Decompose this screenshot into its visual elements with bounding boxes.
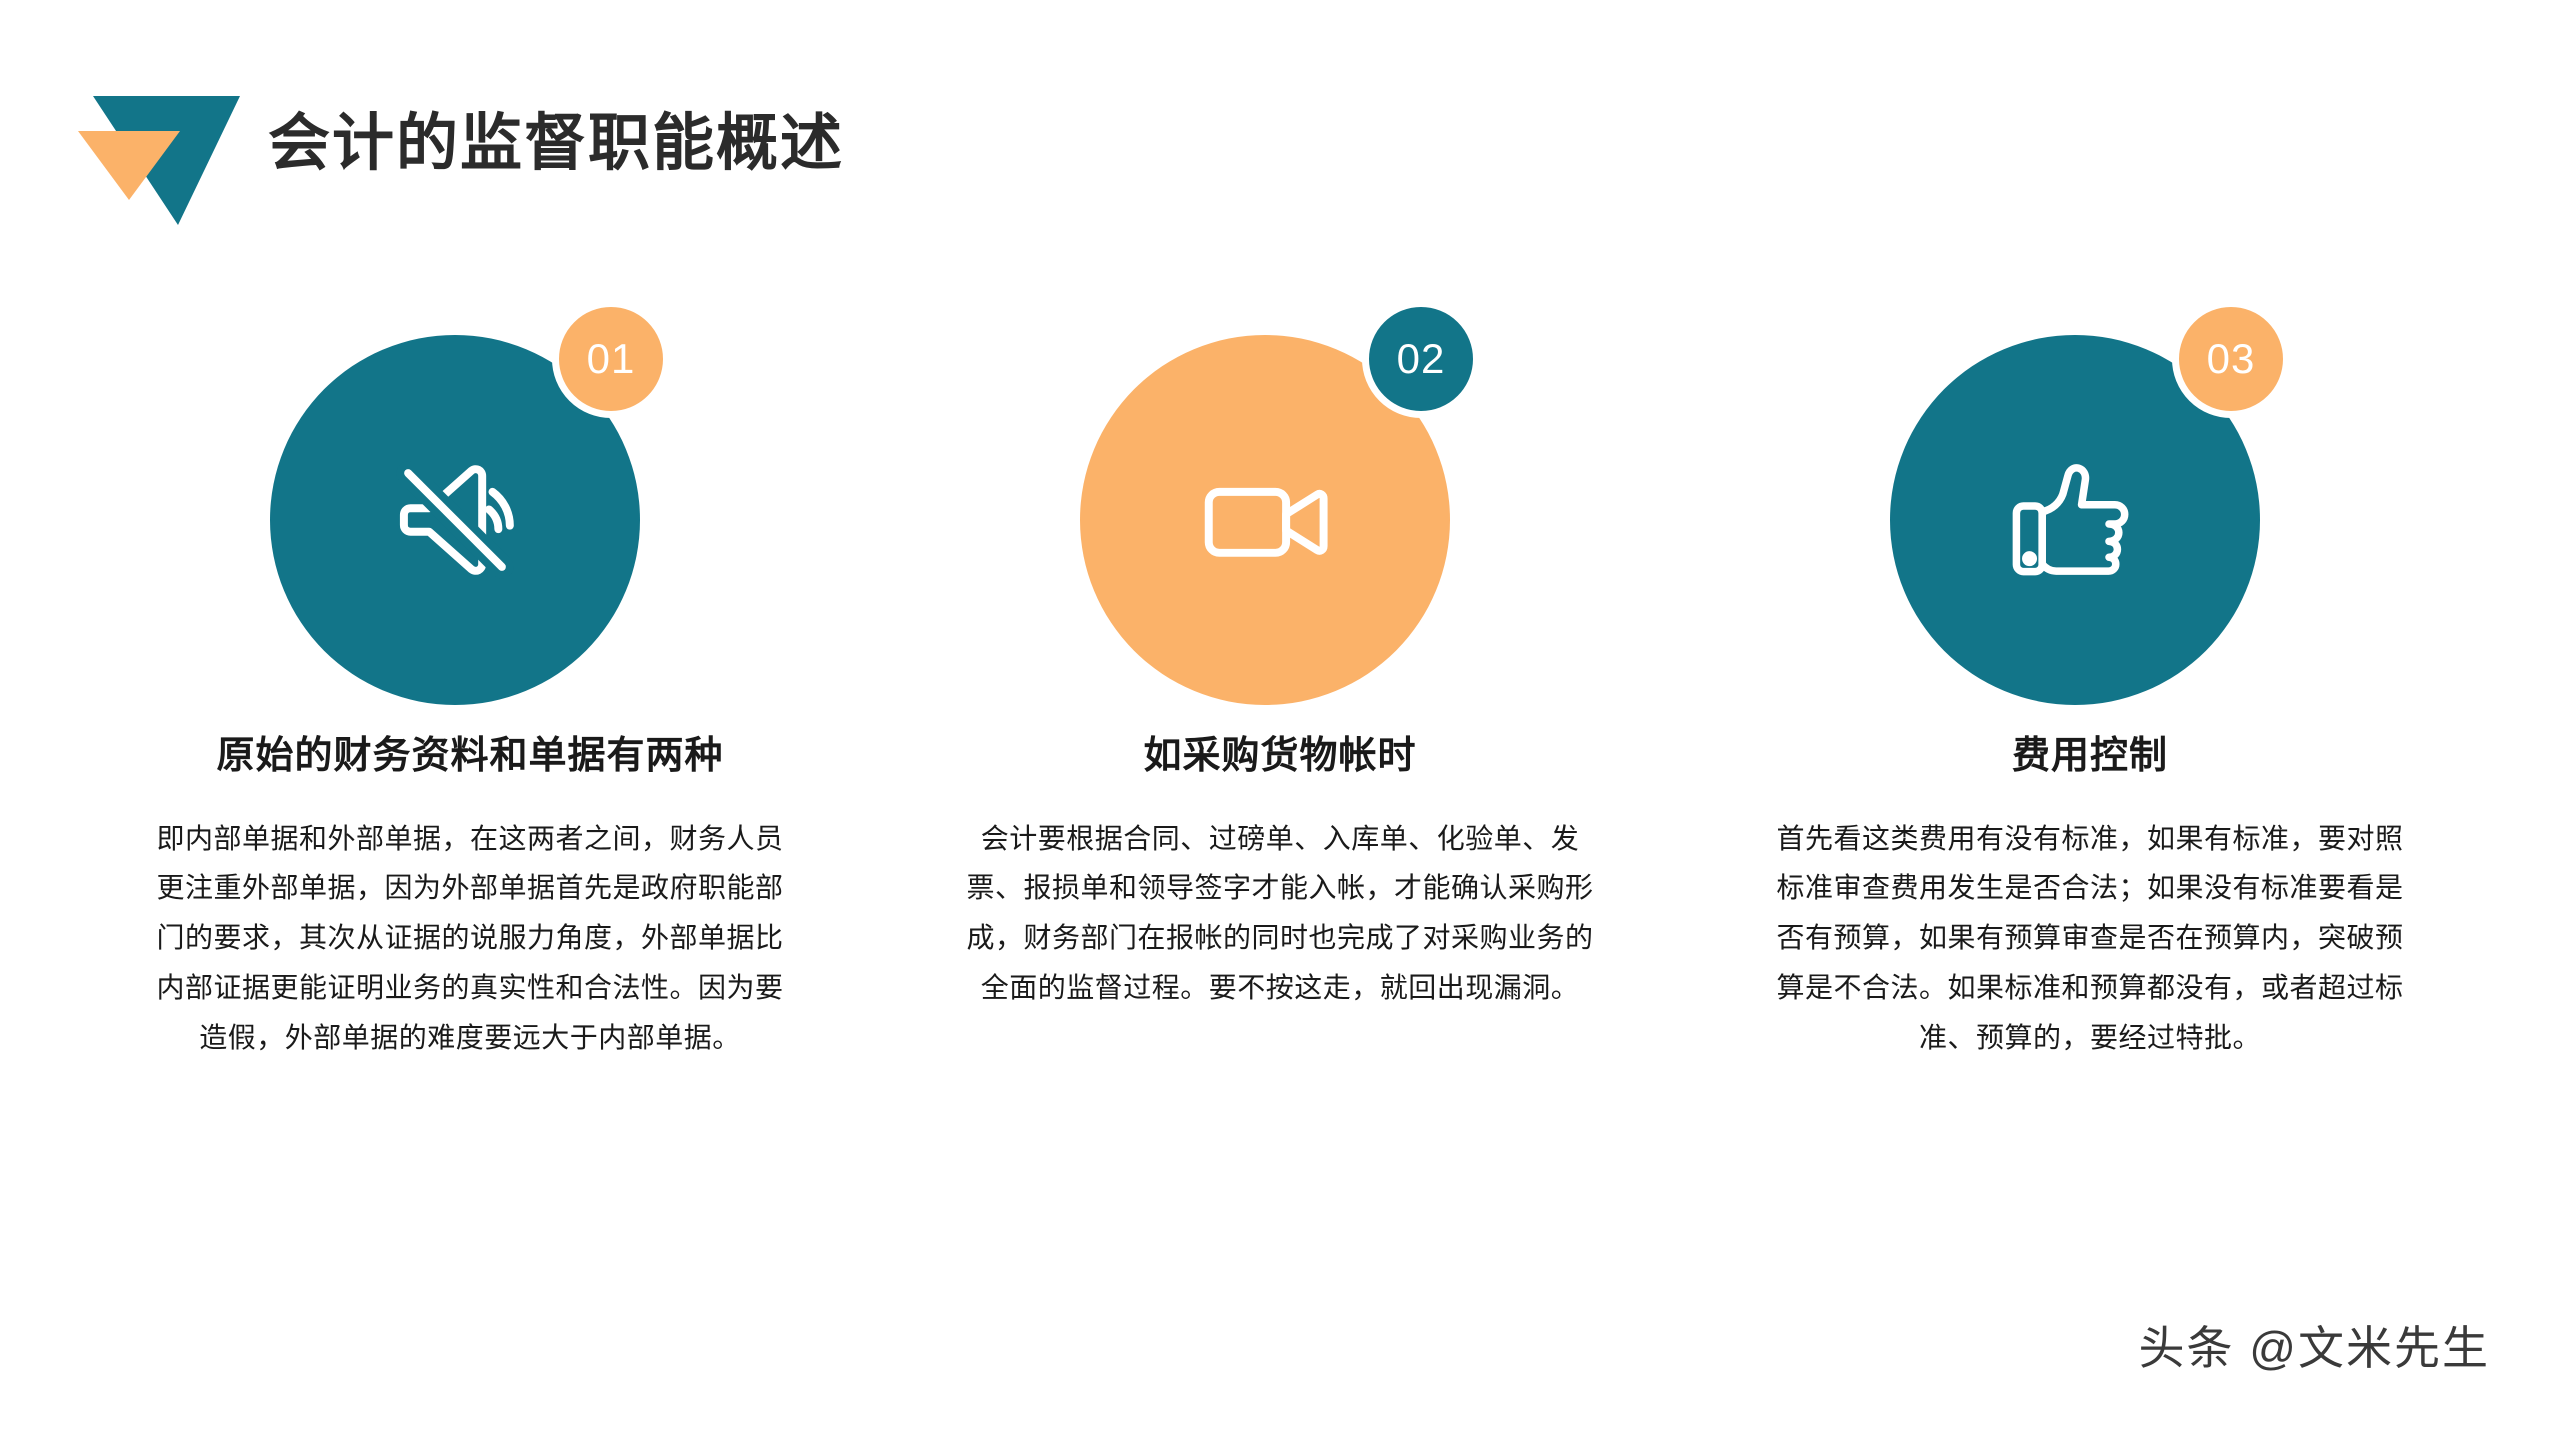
video-camera-icon xyxy=(1190,445,1340,595)
step-badge-01: 01 xyxy=(552,300,670,418)
step-badge-02: 02 xyxy=(1362,300,1480,418)
speaker-mute-icon xyxy=(380,445,530,595)
column-heading-02: 如采购货物帐时 xyxy=(1143,734,1416,780)
brand-logo-icon xyxy=(40,75,240,225)
slide-root: 会计的监督职能概述 xyxy=(0,0,2560,1440)
icon-circle-group-02: 02 xyxy=(1080,300,1480,700)
column-body-03: 首先看这类费用有没有标准，如果有标准，要对照标准审查费用发生是否合法；如果没有标… xyxy=(1770,814,2410,1063)
column-body-02: 会计要根据合同、过磅单、入库单、化验单、发票、报损单和领导签字才能入帐，才能确认… xyxy=(960,814,1600,1013)
page-title: 会计的监督职能概述 xyxy=(268,92,844,182)
feature-column-02: 02 如采购货物帐时 会计要根据合同、过磅单、入库单、化验单、发票、报损单和领导… xyxy=(930,300,1630,1013)
column-heading-01: 原始的财务资料和单据有两种 xyxy=(216,734,723,780)
step-badge-03: 03 xyxy=(2172,300,2290,418)
content-columns: 01 原始的财务资料和单据有两种 即内部单据和外部单据，在这两者之间，财务人员更… xyxy=(0,300,2560,1063)
icon-circle-group-03: 03 xyxy=(1890,300,2290,700)
feature-column-01: 01 原始的财务资料和单据有两种 即内部单据和外部单据，在这两者之间，财务人员更… xyxy=(120,300,820,1063)
watermark-credit: 头条 @文米先生 xyxy=(2139,1312,2490,1378)
icon-circle-group-01: 01 xyxy=(270,300,670,700)
slide-header: 会计的监督职能概述 xyxy=(0,0,2560,230)
feature-column-03: 03 费用控制 首先看这类费用有没有标准，如果有标准，要对照标准审查费用发生是否… xyxy=(1740,300,2440,1063)
column-heading-03: 费用控制 xyxy=(2012,734,2168,780)
column-body-01: 即内部单据和外部单据，在这两者之间，财务人员更注重外部单据，因为外部单据首先是政… xyxy=(150,814,790,1063)
thumbs-up-icon xyxy=(2000,445,2150,595)
